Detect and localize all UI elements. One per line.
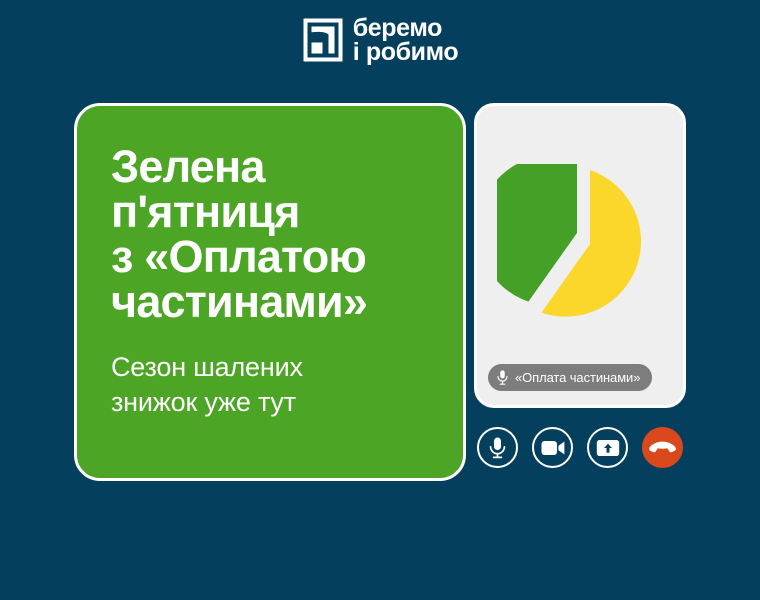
brand-line-2: і робимо bbox=[353, 40, 458, 64]
share-screen-button[interactable] bbox=[587, 427, 628, 468]
pie-chart-svg bbox=[497, 164, 663, 324]
call-controls-bar bbox=[477, 427, 683, 468]
brand-logo: беремо і робимо bbox=[0, 16, 760, 65]
microphone-icon bbox=[497, 370, 508, 385]
brand-wordmark: беремо і робимо bbox=[353, 16, 458, 65]
promo-headline: Зелена п'ятниця з «Оплатою частинами» bbox=[111, 144, 433, 324]
speaker-name-badge: «Оплата частинами» bbox=[488, 364, 652, 391]
end-call-handset-icon bbox=[649, 441, 676, 455]
promo-card: Зелена п'ятниця з «Оплатою частинами» Се… bbox=[74, 103, 466, 481]
video-camera-icon bbox=[541, 440, 565, 456]
microphone-button[interactable] bbox=[477, 427, 518, 468]
camera-button[interactable] bbox=[532, 427, 573, 468]
microphone-icon bbox=[488, 436, 507, 459]
brand-line-1: беремо bbox=[353, 16, 458, 40]
speaker-name-label: «Оплата частинами» bbox=[515, 370, 640, 385]
video-call-tile[interactable]: «Оплата частинами» bbox=[474, 103, 686, 408]
hang-up-button[interactable] bbox=[642, 427, 683, 468]
pie-chart bbox=[477, 164, 683, 324]
promo-subheadline: Сезон шалених знижок уже тут bbox=[111, 350, 433, 419]
beremo-arrow-square-logo-icon bbox=[302, 17, 344, 63]
poster-canvas: беремо і робимо Зелена п'ятниця з «Оплат… bbox=[0, 0, 760, 600]
share-screen-up-arrow-icon bbox=[596, 439, 620, 457]
